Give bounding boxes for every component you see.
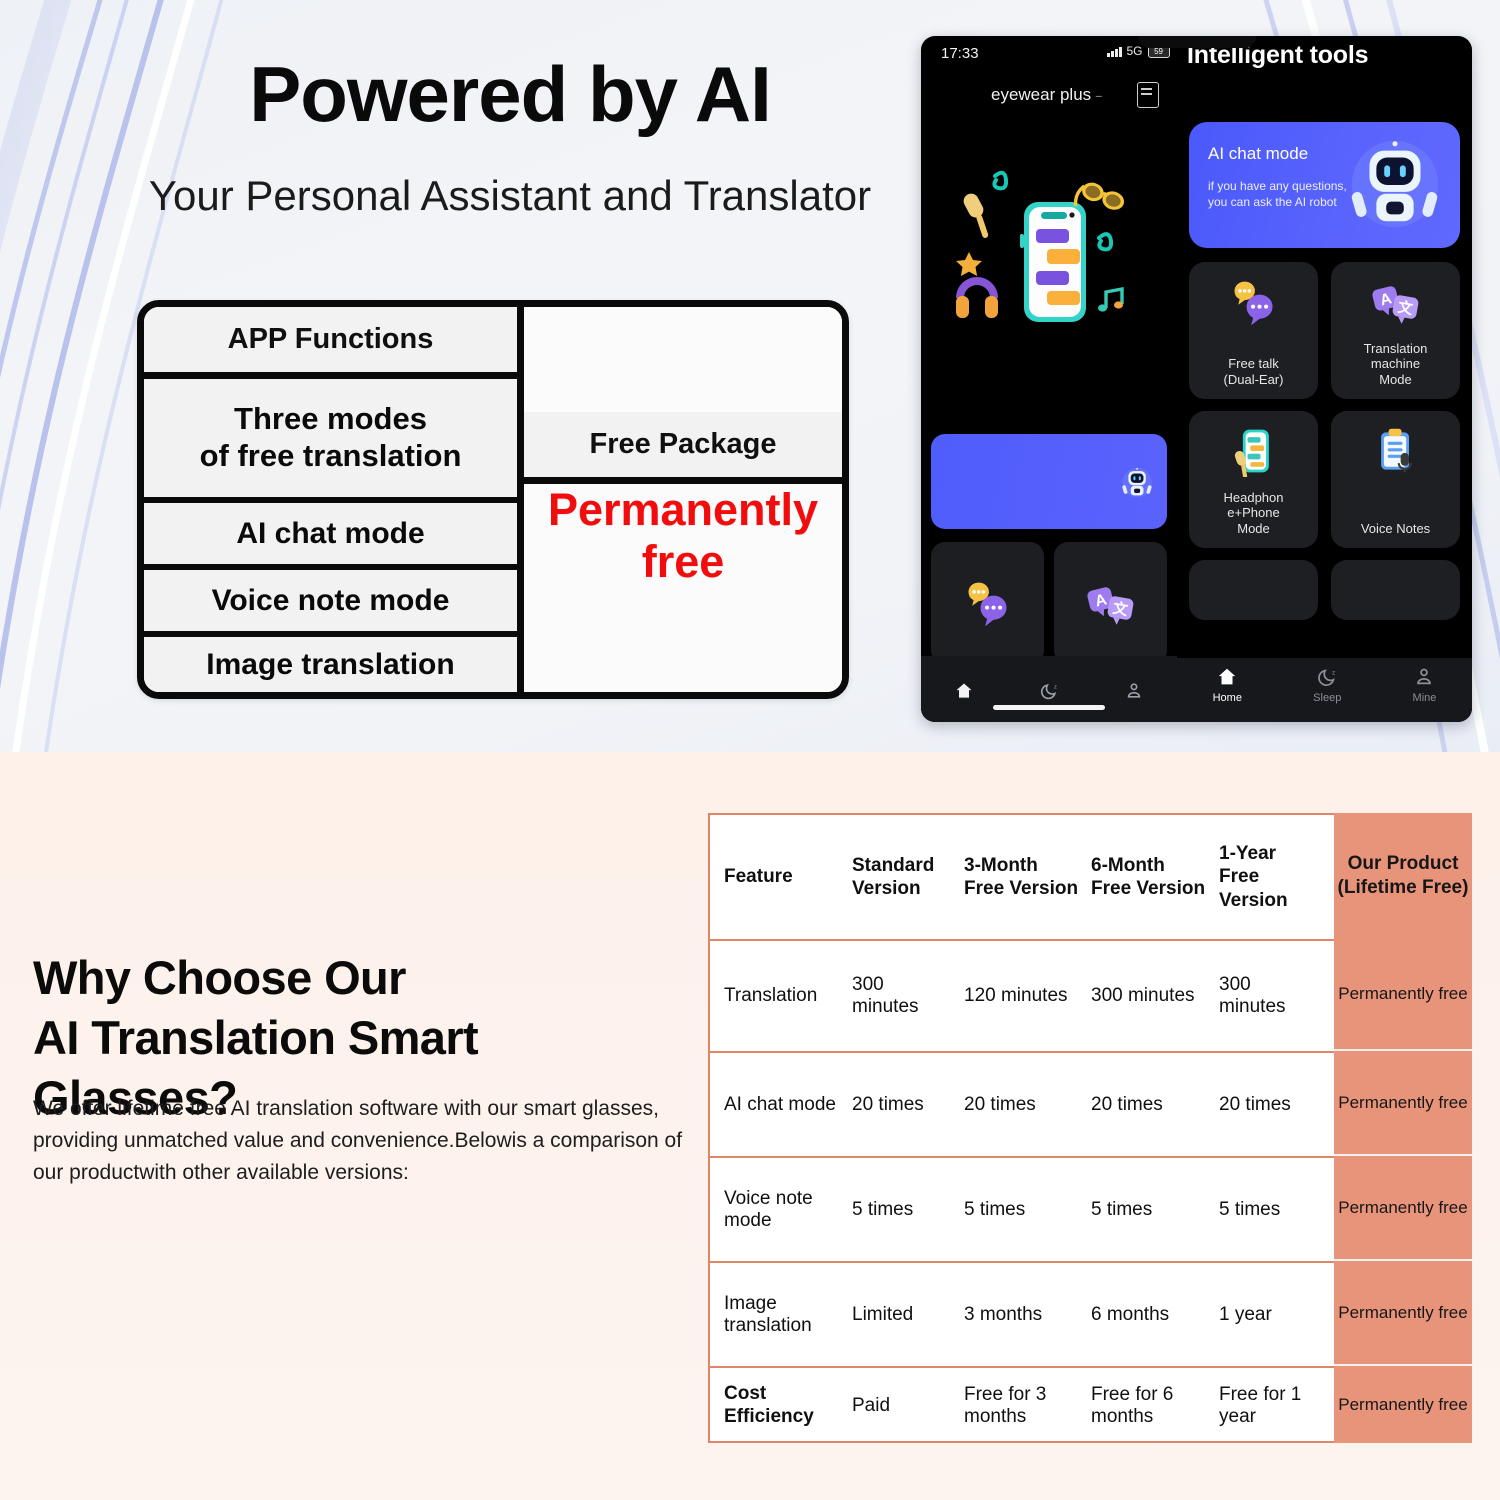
phone-notch [1138, 36, 1256, 48]
row-cost-1year: Free for 1 year [1219, 1384, 1334, 1428]
header-standard-l2: Version [852, 877, 958, 900]
home-icon[interactable] [954, 681, 974, 701]
tile-free-talk[interactable]: Free talk (Dual-Ear) [1189, 262, 1318, 399]
function-row-three-modes-line2: of free translation [200, 438, 462, 475]
tile-headphone-phone-mode[interactable]: Headphon e+Phone Mode [1189, 411, 1318, 548]
row-cost-3month: Free for 3 months [964, 1384, 1091, 1428]
tile-headphone-line2: e+Phone [1224, 505, 1284, 520]
chat-illustration [939, 160, 1159, 360]
nav-home-label: Home [1213, 692, 1242, 704]
nav-sleep[interactable]: z Sleep [1313, 666, 1341, 704]
ai-chat-card-title: AI chat mode [1208, 144, 1308, 164]
row-cost-6month: Free for 6 months [1091, 1384, 1219, 1428]
left-pane-tile-free-talk[interactable] [931, 542, 1044, 664]
row-cost-3month-l2: months [964, 1406, 1085, 1428]
top-hero-section: Powered by AI Your Personal Assistant an… [0, 0, 1500, 752]
table-row-voice-note-mode: Voice note mode 5 times 5 times 5 times … [710, 1158, 1334, 1263]
row-imagetrans-feature: Image translation [710, 1293, 852, 1337]
table-row-image-translation: Image translation Limited 3 months 6 mon… [710, 1263, 1334, 1368]
tile-voice-notes-line1: Voice Notes [1361, 521, 1430, 536]
row-cost-feature-l1: Cost [724, 1383, 846, 1406]
our-product-cost: Permanently free [1334, 1366, 1472, 1443]
tile-free-talk-label: Free talk (Dual-Ear) [1218, 356, 1290, 387]
tile-translation-line1: Translation [1364, 341, 1428, 356]
nav-mine[interactable]: Mine [1413, 666, 1437, 704]
row-translation-standard: 300 minutes [852, 974, 964, 1018]
row-aichat-1year: 20 times [1219, 1094, 1334, 1116]
table-header-row: Feature Standard Version 3-Month Free Ve… [710, 815, 1334, 941]
poster-canvas: Powered by AI Your Personal Assistant an… [0, 0, 1500, 1500]
free-package-header: Free Package [524, 412, 842, 484]
tile-translation-machine-label: Translation machine Mode [1358, 341, 1434, 387]
permanently-free-line2: free [548, 536, 818, 588]
left-pane-header: eyewear plus -- [921, 70, 1177, 108]
person-icon[interactable] [1124, 681, 1144, 701]
comparison-table-main: Feature Standard Version 3-Month Free Ve… [708, 813, 1336, 1443]
tile-headphone-line3: Mode [1224, 521, 1284, 536]
why-choose-body: We offer lifetime free AI translation so… [33, 1093, 693, 1189]
nav-home[interactable]: Home [1213, 666, 1242, 704]
header-6month-l2: Free Version [1091, 877, 1213, 900]
row-voicenote-3month: 5 times [964, 1199, 1091, 1221]
chat-bubbles-icon [1228, 276, 1280, 328]
row-translation-6month: 300 minutes [1091, 985, 1219, 1007]
header-1year: 1-Year Free Version [1219, 842, 1334, 912]
our-product-aichat: Permanently free [1334, 1051, 1472, 1156]
nav-mine-label: Mine [1413, 692, 1437, 704]
row-cost-feature-l2: Efficiency [724, 1406, 846, 1429]
tile-partial-left[interactable] [1189, 560, 1318, 620]
translate-cards-icon: A 文 [1085, 577, 1137, 629]
row-aichat-standard: 20 times [852, 1094, 964, 1116]
row-imagetrans-6month: 6 months [1091, 1304, 1219, 1326]
permanently-free-line1: Permanently [548, 484, 818, 536]
person-icon [1413, 666, 1435, 688]
app-functions-column: APP Functions Three modes of free transl… [144, 307, 524, 692]
function-row-three-modes: Three modes of free translation [144, 379, 517, 503]
row-aichat-6month: 20 times [1091, 1094, 1219, 1116]
header-3month-l2: Free Version [964, 877, 1085, 900]
function-row-three-modes-line1: Three modes [200, 401, 462, 438]
header-1year-l2: Free [1219, 865, 1328, 888]
row-imagetrans-3month: 3 months [964, 1304, 1091, 1326]
status-time: 17:33 [941, 45, 979, 62]
our-product-header-l2: (Lifetime Free) [1338, 876, 1469, 900]
header-6month: 6-Month Free Version [1091, 854, 1219, 900]
row-cost-3month-l1: Free for 3 [964, 1384, 1085, 1406]
app-functions-header: APP Functions [144, 307, 517, 379]
row-translation-1year-l1: 300 [1219, 974, 1328, 996]
our-product-translation: Permanently free [1334, 939, 1472, 1051]
function-row-ai-chat-mode: AI chat mode [144, 503, 517, 570]
left-pane-bottom-nav: z [921, 656, 1177, 722]
our-product-imagetrans: Permanently free [1334, 1261, 1472, 1366]
tile-headphone-line1: Headphon [1224, 490, 1284, 505]
function-row-image-translation: Image translation [144, 637, 517, 692]
header-3month: 3-Month Free Version [964, 854, 1091, 900]
network-label: 5G [1127, 44, 1143, 58]
moon-z-icon: z [1316, 666, 1338, 688]
home-icon [1216, 666, 1238, 688]
svg-text:z: z [1332, 669, 1335, 676]
our-product-header: Our Product (Lifetime Free) [1334, 813, 1472, 939]
phone-chat-icon [1228, 425, 1280, 477]
our-product-column: Our Product (Lifetime Free) Permanently … [1334, 813, 1472, 1443]
left-pane-tile-translation[interactable]: A 文 [1054, 542, 1167, 664]
table-row-ai-chat-mode: AI chat mode 20 times 20 times 20 times … [710, 1053, 1334, 1158]
row-cost-feature: Cost Efficiency [710, 1383, 852, 1429]
svg-text:z: z [1054, 685, 1057, 691]
tile-partial-right[interactable] [1331, 560, 1460, 620]
function-row-voice-note-mode: Voice note mode [144, 570, 517, 637]
tile-translation-line2: machine [1364, 356, 1428, 371]
our-product-header-l1: Our Product [1338, 852, 1469, 876]
clipboard-mic-icon [1370, 425, 1422, 477]
tile-translation-machine[interactable]: A 文 Translation machine Mode [1331, 262, 1460, 399]
row-cost-1year-l1: Free for 1 [1219, 1384, 1328, 1406]
row-translation-1year-l2: minutes [1219, 996, 1328, 1018]
left-pane-ai-card[interactable] [931, 434, 1167, 529]
header-standard-l1: Standard [852, 854, 958, 877]
tile-headphone-label: Headphon e+Phone Mode [1218, 490, 1290, 536]
why-choose-heading-line1: Why Choose Our [33, 948, 693, 1008]
row-cost-6month-l1: Free for 6 [1091, 1384, 1213, 1406]
signal-bars-icon [1107, 46, 1122, 57]
phone-right-pane: AI chat mode if you have any questions, … [1177, 70, 1472, 722]
row-translation-3month: 120 minutes [964, 985, 1091, 1007]
tile-translation-line3: Mode [1364, 372, 1428, 387]
permanently-free-value: Permanently free [548, 484, 818, 588]
row-imagetrans-standard: Limited [852, 1304, 964, 1326]
tile-free-talk-line1: Free talk [1224, 356, 1284, 371]
tile-free-talk-line2: (Dual-Ear) [1224, 372, 1284, 387]
phone-bottom-nav: Home z Sleep Mine [1177, 658, 1472, 722]
tile-voice-notes-label: Voice Notes [1355, 521, 1436, 536]
header-6month-l1: 6-Month [1091, 854, 1213, 877]
menu-dashes: -- [1095, 87, 1100, 103]
row-aichat-3month: 20 times [964, 1094, 1091, 1116]
row-cost-6month-l2: months [1091, 1406, 1213, 1428]
table-row-translation: Translation 300 minutes 120 minutes 300 … [710, 941, 1334, 1053]
chat-bubbles-icon [962, 577, 1014, 629]
row-voicenote-standard: 5 times [852, 1199, 964, 1221]
ai-chat-mode-card[interactable]: AI chat mode if you have any questions, … [1189, 122, 1460, 248]
comparison-table: Feature Standard Version 3-Month Free Ve… [708, 813, 1472, 1443]
row-cost-standard: Paid [852, 1395, 964, 1417]
page-subtitle: Your Personal Assistant and Translator [110, 172, 910, 220]
home-indicator-bar [993, 705, 1105, 710]
row-translation-feature: Translation [710, 985, 852, 1007]
row-translation-standard-l1: 300 [852, 974, 958, 996]
row-translation-1year: 300 minutes [1219, 974, 1334, 1018]
header-feature: Feature [710, 865, 852, 888]
nav-sleep-label: Sleep [1313, 692, 1341, 704]
header-1year-l3: Version [1219, 889, 1328, 912]
tile-voice-notes[interactable]: Voice Notes [1331, 411, 1460, 548]
table-row-cost-efficiency: Cost Efficiency Paid Free for 3 months F… [710, 1368, 1334, 1443]
our-product-voicenote: Permanently free [1334, 1156, 1472, 1261]
phone-mockup: 17:33 5G 59 Intelligent tools eyewear pl… [921, 36, 1472, 722]
document-icon[interactable] [1137, 82, 1159, 108]
row-voicenote-feature: Voice note mode [710, 1188, 852, 1232]
row-cost-1year-l2: year [1219, 1406, 1328, 1428]
moon-z-icon[interactable]: z [1039, 681, 1059, 701]
phone-left-pane: eyewear plus -- [921, 70, 1177, 722]
translate-cards-icon: A 文 [1370, 276, 1422, 328]
app-functions-table: APP Functions Three modes of free transl… [137, 300, 849, 699]
eyewear-app-name: eyewear plus [991, 85, 1091, 105]
free-package-column: Free Package Permanently free [524, 307, 842, 692]
row-imagetrans-1year: 1 year [1219, 1304, 1334, 1326]
page-title: Powered by AI [130, 55, 890, 133]
row-translation-standard-l2: minutes [852, 996, 958, 1018]
header-standard: Standard Version [852, 854, 964, 900]
row-voicenote-6month: 5 times [1091, 1199, 1219, 1221]
header-3month-l1: 3-Month [964, 854, 1085, 877]
header-1year-l1: 1-Year [1219, 842, 1328, 865]
robot-icon-small [1069, 438, 1161, 526]
robot-icon [1344, 132, 1446, 236]
row-voicenote-1year: 5 times [1219, 1199, 1334, 1221]
row-aichat-feature: AI chat mode [710, 1094, 852, 1116]
